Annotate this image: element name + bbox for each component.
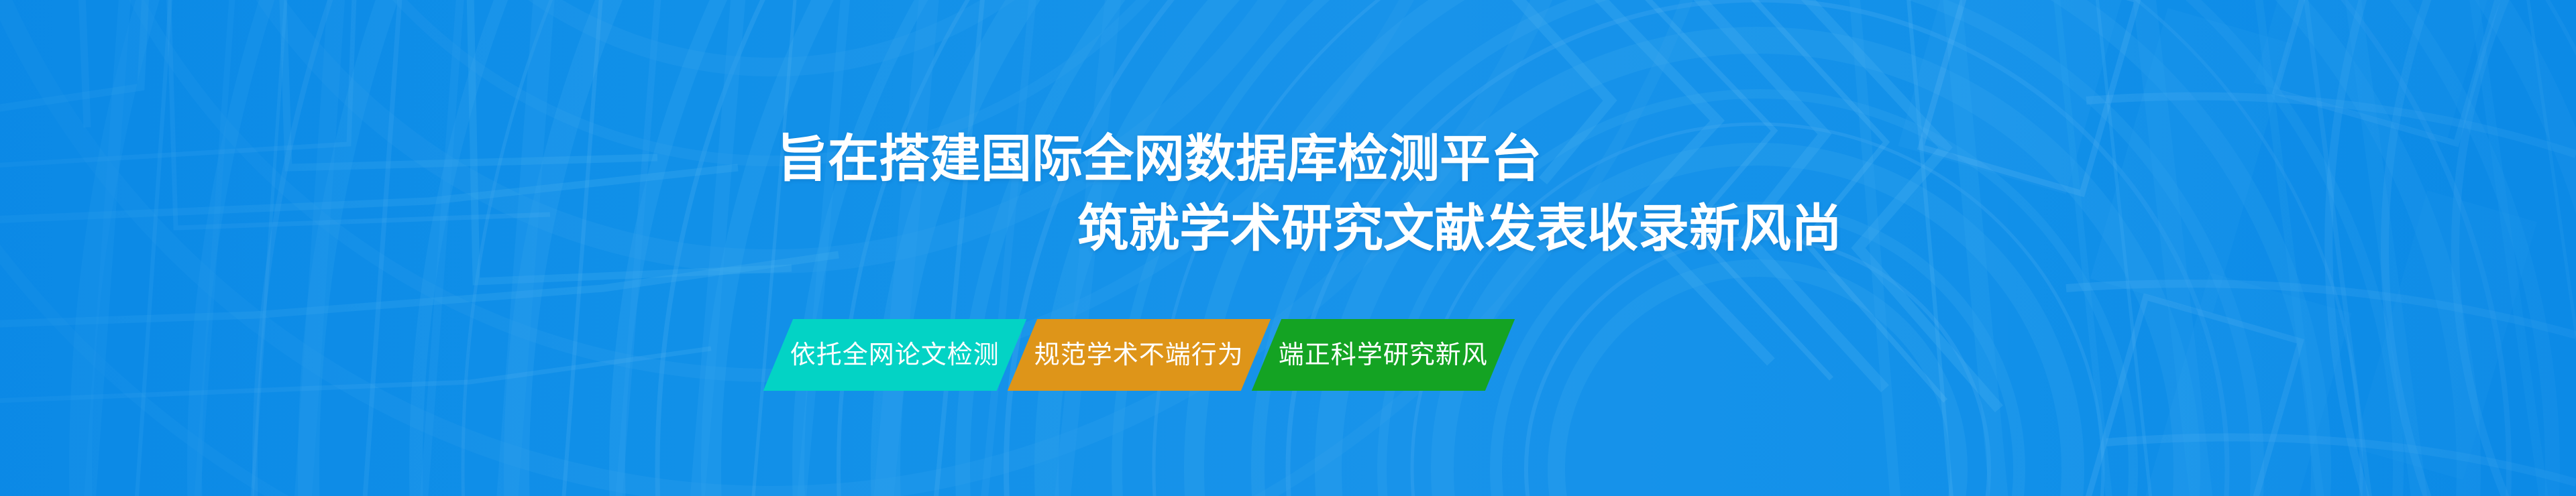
feature-badge-group: 依托全网论文检测 规范学术不端行为 端正科学研究新风 xyxy=(778,319,1500,391)
feature-badge-misconduct-label: 规范学术不端行为 xyxy=(1034,343,1244,368)
feature-badge-integrity[interactable]: 端正科学研究新风 xyxy=(1252,319,1515,391)
feature-badge-misconduct[interactable]: 规范学术不端行为 xyxy=(1008,319,1271,391)
headline-line-2: 筑就学术研究文献发表收录新风尚 xyxy=(0,194,2576,264)
promo-banner: 旨在搭建国际全网数据库检测平台 筑就学术研究文献发表收录新风尚 依托全网论文检测… xyxy=(0,0,2576,496)
feature-badge-detection-label: 依托全网论文检测 xyxy=(790,343,1000,368)
headline-block: 旨在搭建国际全网数据库检测平台 筑就学术研究文献发表收录新风尚 xyxy=(0,125,2576,264)
feature-badge-integrity-label: 端正科学研究新风 xyxy=(1279,343,1488,368)
headline-line-1: 旨在搭建国际全网数据库检测平台 xyxy=(0,125,2576,194)
feature-badge-detection[interactable]: 依托全网论文检测 xyxy=(763,319,1026,391)
